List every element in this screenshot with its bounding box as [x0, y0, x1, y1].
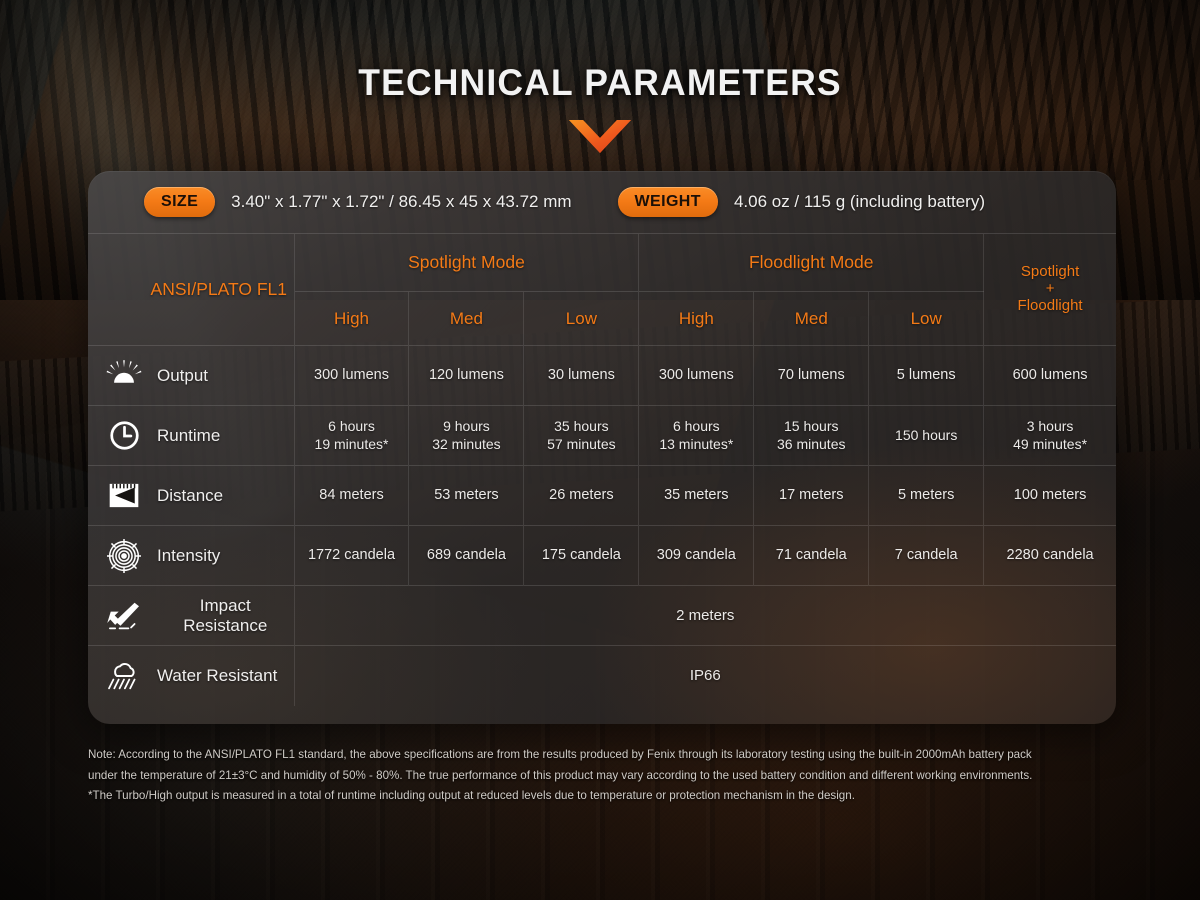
cell-intensity-turbo: 2280 candela	[984, 526, 1116, 586]
rain-cloud-icon	[104, 658, 144, 694]
mode-header-spot-low: Low	[524, 292, 639, 346]
table-row: Impact Resistance 2 meters	[88, 586, 1116, 646]
row-label-output: Output	[88, 346, 294, 406]
group-header-line-2: +	[984, 281, 1116, 298]
cell-distance-spot-med: 53 meters	[409, 466, 524, 526]
row-label-text: Intensity	[157, 546, 220, 566]
row-label-distance: Distance	[88, 466, 294, 526]
weight-badge: WEIGHT	[618, 187, 718, 217]
row-label-text: Distance	[157, 486, 223, 506]
note-line-1: Note: According to the ANSI/PLATO FL1 st…	[88, 745, 1148, 766]
cell-runtime-spot-med: 9 hours32 minutes	[409, 406, 524, 466]
cell-intensity-flood-low: 7 candela	[869, 526, 984, 586]
row-label-water-resistant: Water Resistant	[88, 646, 294, 706]
page-title: TECHNICAL PARAMETERS	[24, 62, 1176, 104]
cell-intensity-spot-high: 1772 candela	[294, 526, 409, 586]
cell-distance-flood-med: 17 meters	[754, 466, 869, 526]
table-group-header-row: ANSI/PLATO FL1 Spotlight Mode Floodlight…	[88, 234, 1116, 292]
cell-runtime-turbo: 3 hours49 minutes*	[984, 406, 1116, 466]
cell-impact-resistance-value: 2 meters	[294, 586, 1116, 646]
cell-distance-turbo: 100 meters	[984, 466, 1116, 526]
clock-icon	[104, 418, 144, 454]
group-header-spotlight-floodlight: Spotlight + Floodlight	[984, 234, 1116, 346]
cell-output-flood-med: 70 lumens	[754, 346, 869, 406]
specifications-table: ANSI/PLATO FL1 Spotlight Mode Floodlight…	[88, 233, 1116, 706]
cell-output-flood-low: 5 lumens	[869, 346, 984, 406]
cell-output-spot-high: 300 lumens	[294, 346, 409, 406]
title-block: TECHNICAL PARAMETERS	[0, 62, 1200, 154]
cell-intensity-flood-high: 309 candela	[639, 526, 754, 586]
mode-header-flood-low: Low	[869, 292, 984, 346]
cell-output-spot-low: 30 lumens	[524, 346, 639, 406]
cell-water-resistant-value: IP66	[294, 646, 1116, 706]
footer-note: Note: According to the ANSI/PLATO FL1 st…	[88, 745, 1148, 807]
cell-intensity-spot-med: 689 candela	[409, 526, 524, 586]
mode-header-spot-med: Med	[409, 292, 524, 346]
chevron-down-icon	[569, 120, 631, 154]
size-value: 3.40" x 1.77" x 1.72" / 86.45 x 45 x 43.…	[231, 192, 571, 212]
mode-header-flood-high: High	[639, 292, 754, 346]
cell-intensity-spot-low: 175 candela	[524, 526, 639, 586]
table-row: Runtime 6 hours19 minutes* 9 hours32 min…	[88, 406, 1116, 466]
cell-runtime-flood-high: 6 hours13 minutes*	[639, 406, 754, 466]
weight-value: 4.06 oz / 115 g (including battery)	[734, 192, 985, 212]
cell-runtime-flood-med: 15 hours36 minutes	[754, 406, 869, 466]
cell-distance-spot-high: 84 meters	[294, 466, 409, 526]
cell-runtime-spot-low: 35 hours57 minutes	[524, 406, 639, 466]
note-line-3: *The Turbo/High output is measured in a …	[88, 786, 1148, 807]
row-label-text: Impact Resistance	[157, 596, 294, 636]
cell-distance-flood-high: 35 meters	[639, 466, 754, 526]
mode-header-flood-med: Med	[754, 292, 869, 346]
mode-header-spot-high: High	[294, 292, 409, 346]
group-header-line-3: Floodlight	[984, 298, 1116, 315]
cell-output-flood-high: 300 lumens	[639, 346, 754, 406]
cell-distance-spot-low: 26 meters	[524, 466, 639, 526]
group-header-spotlight: Spotlight Mode	[294, 234, 639, 292]
target-intensity-icon	[104, 538, 144, 574]
parameters-panel: SIZE 3.40" x 1.77" x 1.72" / 86.45 x 45 …	[88, 171, 1116, 724]
cell-output-turbo: 600 lumens	[984, 346, 1116, 406]
row-label-intensity: Intensity	[88, 526, 294, 586]
table-row: Water Resistant IP66	[88, 646, 1116, 706]
size-badge: SIZE	[144, 187, 215, 217]
cell-runtime-spot-high: 6 hours19 minutes*	[294, 406, 409, 466]
row-label-impact-resistance: Impact Resistance	[88, 586, 294, 646]
row-label-text: Runtime	[157, 426, 220, 446]
impact-arrow-icon	[104, 598, 144, 634]
size-weight-strip: SIZE 3.40" x 1.77" x 1.72" / 86.45 x 45 …	[88, 171, 1116, 233]
row-label-text: Water Resistant	[157, 666, 277, 686]
group-header-line-1: Spotlight	[984, 264, 1116, 281]
beam-distance-icon	[104, 478, 144, 514]
sun-rays-icon	[104, 358, 144, 394]
standard-label: ANSI/PLATO FL1	[88, 234, 294, 346]
cell-output-spot-med: 120 lumens	[409, 346, 524, 406]
note-line-2: under the temperature of 21±3°C and humi…	[88, 766, 1148, 787]
group-header-floodlight: Floodlight Mode	[639, 234, 984, 292]
table-row: Output 300 lumens 120 lumens 30 lumens 3…	[88, 346, 1116, 406]
row-label-runtime: Runtime	[88, 406, 294, 466]
row-label-text: Output	[157, 366, 208, 386]
cell-runtime-flood-low: 150 hours	[869, 406, 984, 466]
table-row: Distance 84 meters 53 meters 26 meters 3…	[88, 466, 1116, 526]
table-row: Intensity 1772 candela 689 candela 175 c…	[88, 526, 1116, 586]
cell-distance-flood-low: 5 meters	[869, 466, 984, 526]
cell-intensity-flood-med: 71 candela	[754, 526, 869, 586]
